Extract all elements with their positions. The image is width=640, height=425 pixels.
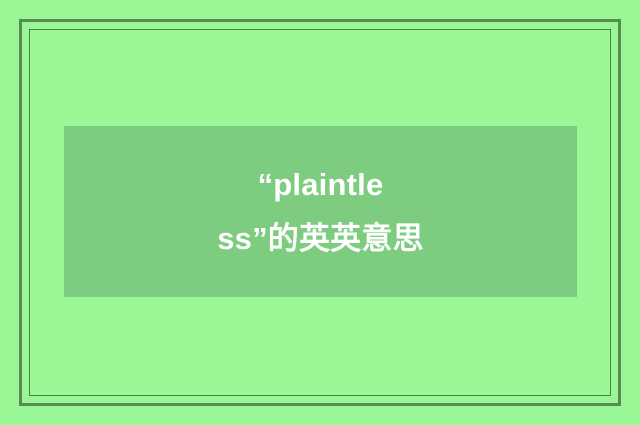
page-title-line-1: “plaintle [217,158,424,211]
title-banner: “plaintle ss”的英英意思 [64,126,577,297]
page-title: “plaintle ss”的英英意思 [217,158,424,265]
poster-canvas: “plaintle ss”的英英意思 [0,0,640,425]
page-title-line-2: ss”的英英意思 [217,212,424,265]
